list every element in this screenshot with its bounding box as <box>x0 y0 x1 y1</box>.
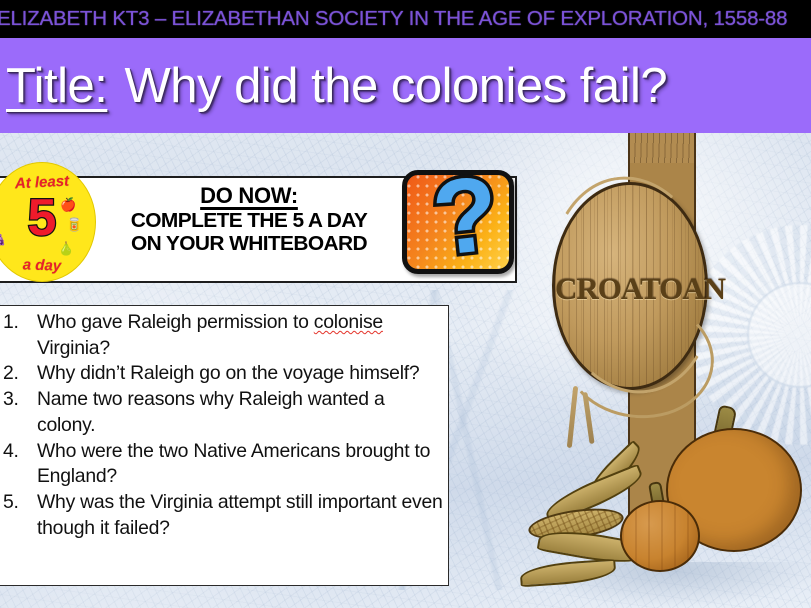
do-now-heading: DO NOW: <box>200 184 298 209</box>
apple-icon: 🍎 <box>60 198 76 211</box>
do-now-line-3: ON YOUR WHITEBOARD <box>81 232 418 255</box>
question-text: Name two reasons why Raleigh wanted a co… <box>37 388 385 436</box>
question-list-item: Name two reasons why Raleigh wanted a co… <box>1 387 444 438</box>
question-text: Who were the two Native Americans brough… <box>37 440 430 488</box>
title-question-text: Why did the colonies fail? <box>125 59 668 113</box>
question-list-item: Who gave Raleigh permission to colonise … <box>1 310 444 361</box>
grapes-icon: 🍇 <box>0 232 6 245</box>
peas-can-icon: 🥫 <box>66 218 82 231</box>
question-mark-graphic: ? <box>396 164 520 282</box>
question-list-item: Why didn’t Raleigh go on the voyage hims… <box>1 361 444 387</box>
page-title: Title: Why did the colonies fail? <box>6 58 667 114</box>
do-now-text-block: DO NOW: COMPLETE THE 5 A DAY ON YOUR WHI… <box>84 184 414 255</box>
rope-tail-icon <box>567 386 578 448</box>
slide-canvas: CROATOAN Title: Why did the colonies fai… <box>0 0 811 608</box>
course-header-bar: ELIZABETH KT3 – ELIZABETHAN SOCIETY IN T… <box>0 0 811 38</box>
small-pumpkin-icon <box>620 500 700 572</box>
do-now-line-2: COMPLETE THE 5 A DAY <box>81 209 418 232</box>
course-header-text: ELIZABETH KT3 – ELIZABETHAN SOCIETY IN T… <box>0 7 787 31</box>
question-text-tail: Virginia? <box>37 337 110 359</box>
title-label: Title: <box>6 59 111 113</box>
juice-carton-icon: 🧃 <box>0 204 2 217</box>
question-text: Why didn’t Raleigh go on the voyage hims… <box>37 362 419 384</box>
question-text: Who gave Raleigh permission to <box>37 311 314 333</box>
title-banner: Title: Why did the colonies fail? <box>0 38 811 133</box>
five-a-day-badge: At least 5 a day 🍎 🥫 🍐 🍇 🧃 <box>0 162 96 282</box>
question-list-item: Why was the Virginia attempt still impor… <box>1 490 444 541</box>
question-list-box: Who gave Raleigh permission to colonise … <box>0 305 449 586</box>
croatoan-illustration: CROATOAN <box>520 110 811 608</box>
question-text: Why was the Virginia attempt still impor… <box>37 491 443 539</box>
question-list-item: Who were the two Native Americans brough… <box>1 439 444 490</box>
misspelled-word: colonise <box>314 311 383 333</box>
pear-icon: 🍐 <box>58 242 74 255</box>
question-mark-icon: ? <box>412 155 520 282</box>
badge-bottom-text: a day <box>0 255 96 276</box>
question-list: Who gave Raleigh permission to colonise … <box>1 310 444 541</box>
